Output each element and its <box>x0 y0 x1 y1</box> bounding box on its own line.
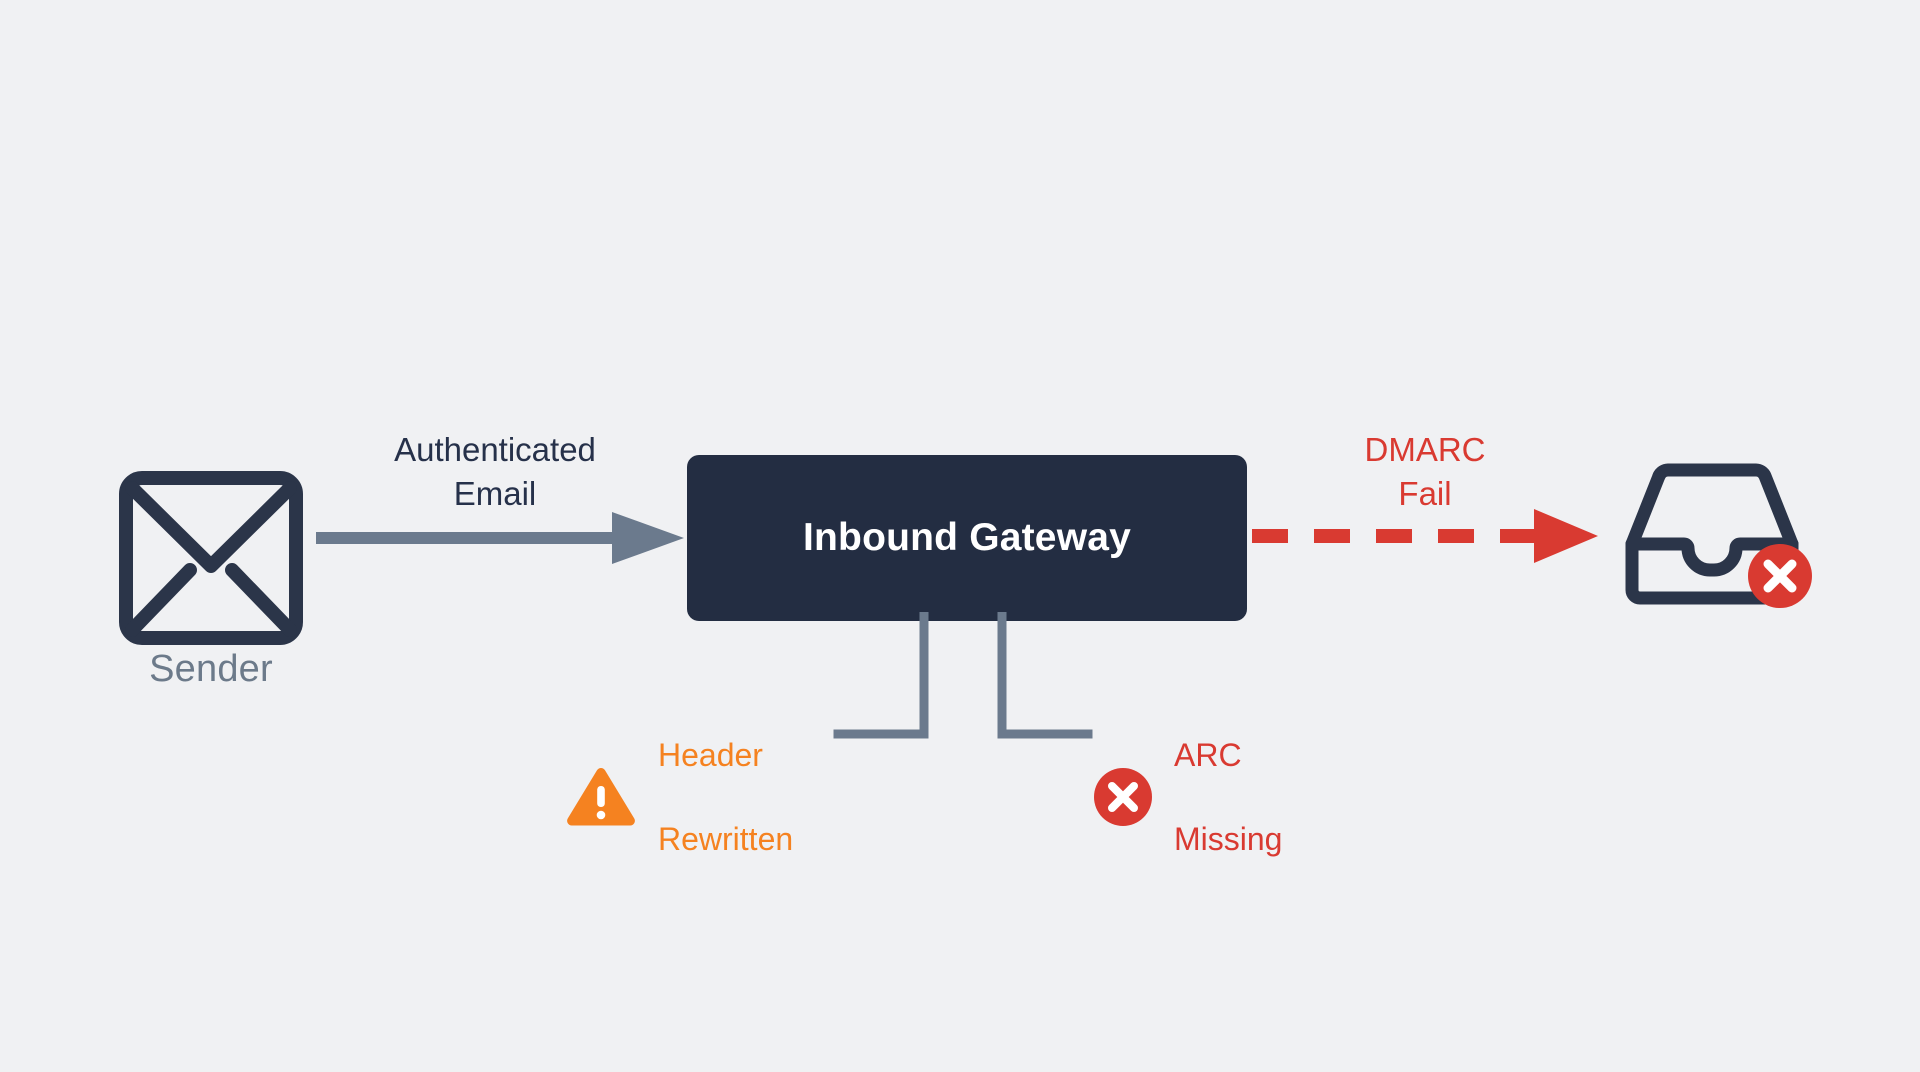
error-circle-x-icon <box>1092 766 1154 828</box>
sender-node: Sender <box>118 470 308 650</box>
recipient-inbox-node: RecipientInbox <box>1622 462 1842 632</box>
arc-missing-line2: Missing <box>1174 818 1282 860</box>
warning-triangle-icon <box>566 766 636 828</box>
header-rewritten-line1: Header <box>658 734 793 776</box>
gateway-annotation-connectors <box>820 612 1110 752</box>
diagram-canvas: Sender Authenticated Email Inbound Gatew… <box>0 0 1920 1072</box>
dmarc-fail-line1: DMARC <box>1290 428 1560 472</box>
dmarc-fail-dashed-arrow <box>1248 505 1608 571</box>
header-rewritten-line2: Rewritten <box>658 818 793 860</box>
authenticated-email-line1: Authenticated <box>290 428 700 472</box>
arc-missing-annotation: ARC Missing <box>1092 692 1282 902</box>
arc-missing-line1: ARC <box>1174 734 1282 776</box>
envelope-icon <box>118 470 304 646</box>
header-rewritten-text: Header Rewritten <box>658 692 793 902</box>
arc-missing-text: ARC Missing <box>1174 692 1282 902</box>
authenticated-email-label: Authenticated Email <box>290 428 700 516</box>
inbox-tray-icon <box>1622 462 1832 612</box>
authenticated-email-arrow <box>312 505 692 575</box>
sender-label: Sender <box>98 648 324 691</box>
header-rewritten-annotation: Header Rewritten <box>566 692 793 902</box>
inbound-gateway-label: Inbound Gateway <box>803 516 1131 560</box>
dmarc-fail-label: DMARC Fail <box>1290 428 1560 516</box>
inbound-gateway-node[interactable]: Inbound Gateway <box>687 455 1247 621</box>
